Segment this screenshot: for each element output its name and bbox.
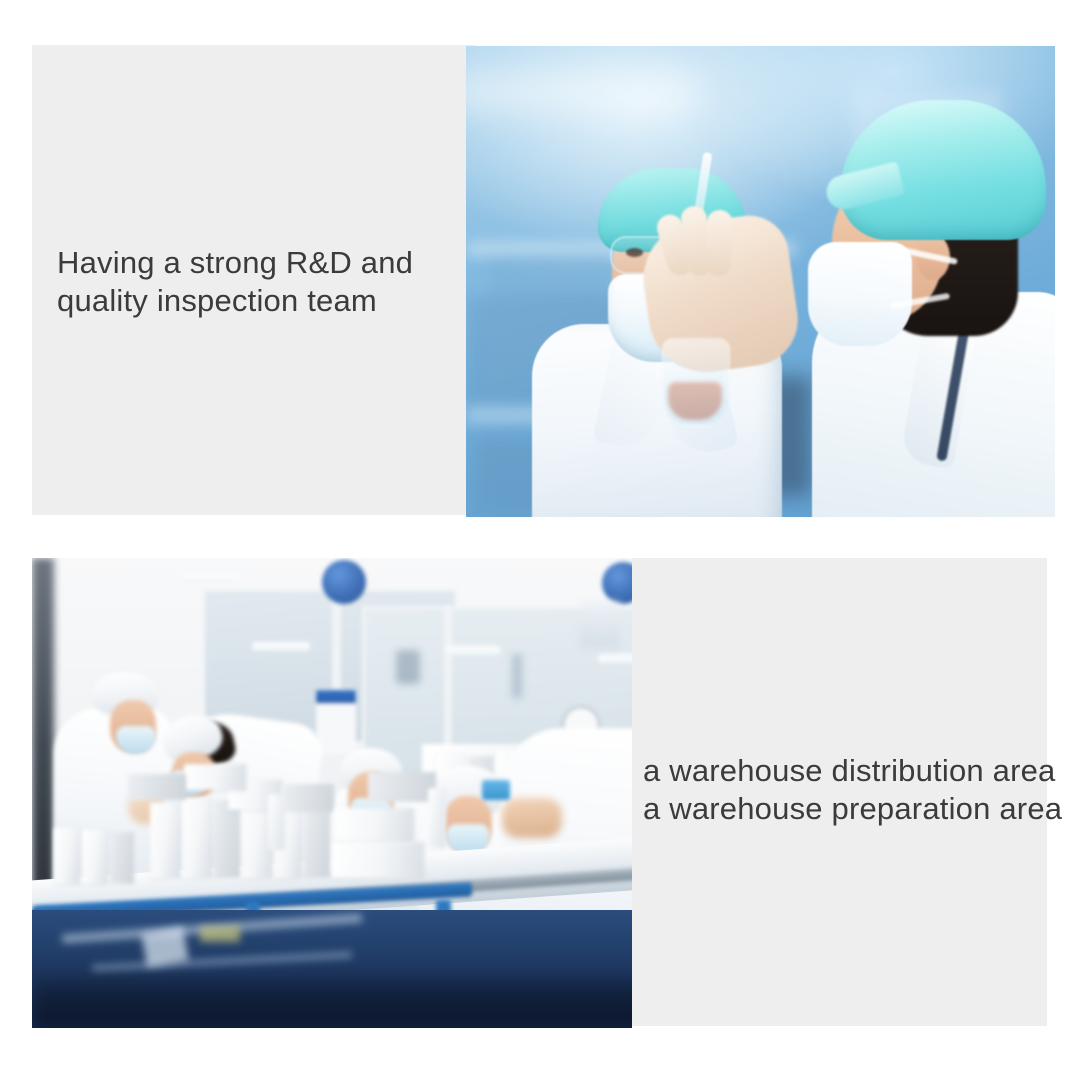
top-caption-line-2: quality inspection team <box>57 282 413 320</box>
flask-liquid <box>668 382 722 420</box>
flat-box-7 <box>128 774 186 800</box>
top-caption: Having a strong R&D and quality inspecti… <box>57 244 413 320</box>
ceiling-light-4 <box>598 654 632 663</box>
wall-edge-dark <box>32 558 54 918</box>
lab-worker-right <box>766 66 1055 517</box>
ceiling-rod <box>512 654 522 698</box>
ceiling-light-1 <box>182 574 238 582</box>
worker-left-eye-left <box>626 248 643 257</box>
top-caption-line-1: Having a strong R&D and <box>57 244 413 282</box>
bottom-caption-line-1: a warehouse distribution area <box>643 752 1062 790</box>
table-box-7 <box>54 828 80 884</box>
bottom-caption: a warehouse distribution area a warehous… <box>643 752 1062 828</box>
flat-box-5 <box>368 772 436 802</box>
table-box-2 <box>182 797 212 879</box>
flat-box-3 <box>334 808 414 842</box>
ceiling-light-3 <box>446 646 500 655</box>
flat-box-2 <box>282 784 334 812</box>
blue-product-label <box>482 780 510 800</box>
product-bottle-2 <box>428 788 446 848</box>
ceiling-fixture <box>396 650 420 684</box>
product-bottle-1 <box>268 794 285 850</box>
table-box-9 <box>110 832 134 884</box>
bottom-caption-line-2: a warehouse preparation area <box>643 790 1062 828</box>
floor-shadow <box>32 978 632 1028</box>
lab-scene-background <box>466 46 1055 517</box>
finger-3 <box>705 210 733 277</box>
ceiling-hanger <box>580 602 620 648</box>
page-canvas: Having a strong R&D and quality inspecti… <box>0 0 1080 1080</box>
packer-5-hand <box>502 798 562 838</box>
flat-box-6 <box>184 764 246 790</box>
ceiling-light-2 <box>252 642 310 651</box>
table-box-8 <box>82 830 108 884</box>
company-logo-icon <box>322 560 366 604</box>
lab-inspection-photo <box>466 46 1055 517</box>
table-box-1 <box>150 801 180 879</box>
worker-right-face-mask <box>808 242 912 346</box>
table-box-6 <box>304 803 330 878</box>
packaging-scene-background <box>32 558 632 1028</box>
floor-yellow-marking <box>200 926 240 942</box>
warehouse-packaging-photo <box>32 558 632 1028</box>
notice-board-header <box>316 690 356 703</box>
table-box-3 <box>214 799 240 878</box>
flat-box-4 <box>332 842 424 878</box>
floor-paper-scrap <box>141 927 188 968</box>
